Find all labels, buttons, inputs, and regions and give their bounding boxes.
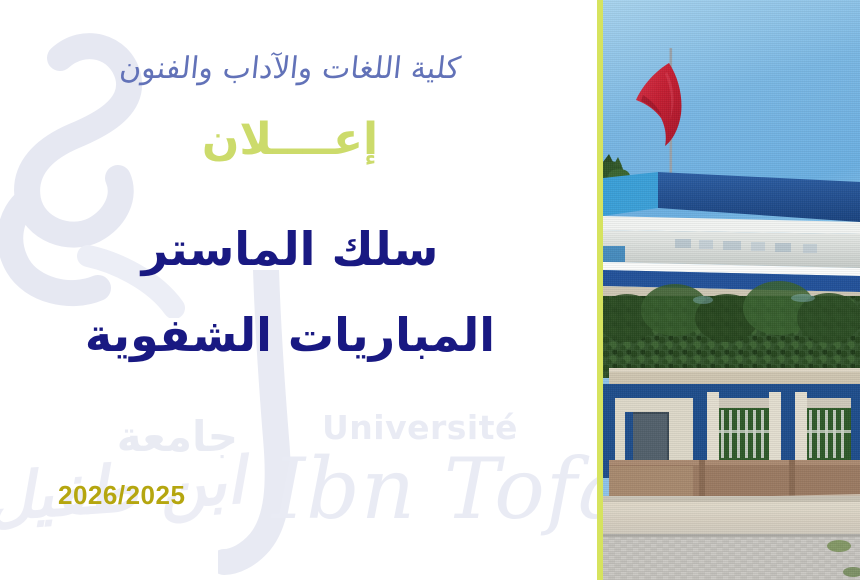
subject-line-oral-exams: المباريات الشفوية bbox=[0, 308, 580, 362]
watermark-jamiaa: جامعة bbox=[8, 412, 238, 461]
faculty-title: كلية اللغات والآداب والفنون bbox=[0, 50, 582, 88]
academic-year-label: 2026/2025 bbox=[58, 480, 185, 511]
campus-photo bbox=[603, 0, 860, 580]
announcement-heading: إعــــلان bbox=[0, 116, 580, 164]
watermark-ibn-tofail: Ibn Tofaïl bbox=[272, 440, 598, 538]
subject-line-master-track: سلك الماستر bbox=[0, 222, 580, 276]
campus-photo-illustration bbox=[603, 0, 860, 580]
watermark-universite: Université bbox=[322, 408, 518, 447]
announcement-poster: Université Ibn Tofaïl جامعة ابن طفيل كلي… bbox=[0, 0, 860, 580]
text-panel: Université Ibn Tofaïl جامعة ابن طفيل كلي… bbox=[0, 0, 598, 580]
